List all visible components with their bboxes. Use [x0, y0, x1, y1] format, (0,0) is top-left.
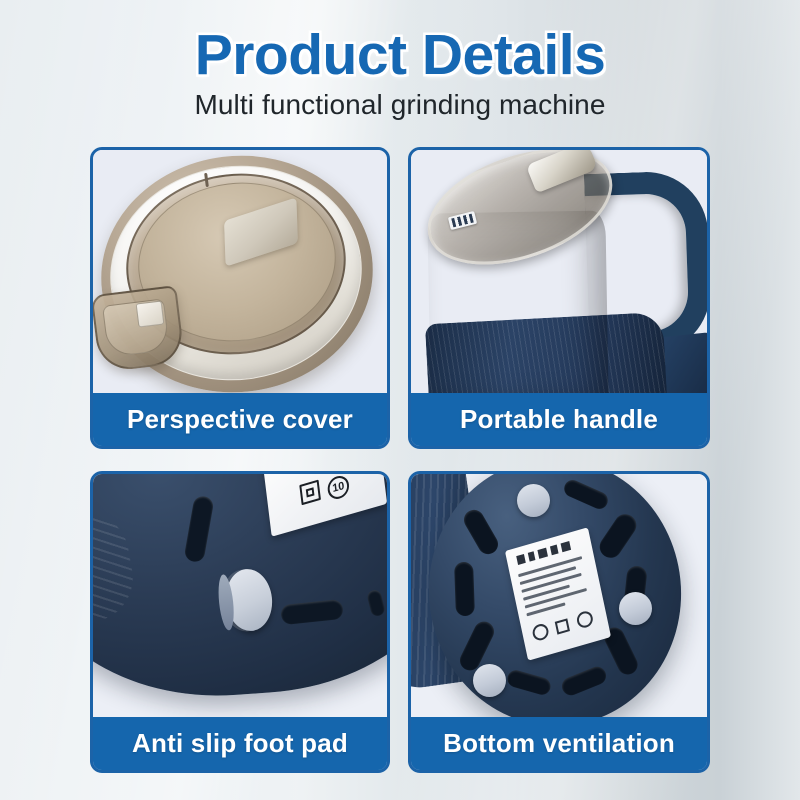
recycle-icon: [531, 622, 550, 642]
foot-pad: [517, 484, 550, 517]
handle-illustration: [411, 150, 707, 395]
panel-caption-perspective-cover: Perspective cover: [93, 393, 387, 446]
product-photo-bottom-ventilation: [411, 474, 707, 719]
label-mark: [561, 541, 572, 552]
product-photo-anti-slip-foot-pad: 10: [93, 474, 387, 719]
foot-pad: [473, 664, 506, 697]
panel-caption-bottom-ventilation: Bottom ventilation: [411, 717, 707, 770]
product-details-infographic: Product Details Multi functional grindin…: [0, 0, 800, 800]
label-mark: [516, 554, 526, 565]
product-photo-portable-handle: [411, 150, 707, 395]
cover-latch-clip: [136, 301, 165, 328]
panel-perspective-cover[interactable]: Perspective cover: [90, 147, 390, 449]
cover-illustration: [93, 150, 387, 395]
class-ii-icon: [555, 618, 570, 634]
panel-caption-anti-slip-foot-pad: Anti slip foot pad: [93, 717, 387, 770]
panel-anti-slip-foot-pad[interactable]: 10 Anti slip foot pad: [90, 471, 390, 773]
foot-pad-illustration: 10: [93, 474, 387, 719]
label-mark: [528, 551, 536, 561]
bottom-ventilation-illustration: [411, 474, 707, 719]
label-mark: [550, 545, 559, 556]
foot-pad: [619, 592, 652, 625]
class-ii-icon: [299, 480, 321, 506]
recycle-10-icon: 10: [326, 474, 350, 502]
header: Product Details Multi functional grindin…: [0, 0, 800, 140]
label-mark: [537, 548, 548, 559]
product-photo-perspective-cover: [93, 150, 387, 395]
panel-portable-handle[interactable]: Portable handle: [408, 147, 710, 449]
page-subtitle: Multi functional grinding machine: [0, 89, 800, 121]
panel-caption-portable-handle: Portable handle: [411, 393, 707, 446]
panel-bottom-ventilation[interactable]: Bottom ventilation: [408, 471, 710, 773]
vent-slot: [454, 562, 475, 617]
certification-icon: [576, 609, 595, 629]
page-title: Product Details: [0, 22, 800, 88]
